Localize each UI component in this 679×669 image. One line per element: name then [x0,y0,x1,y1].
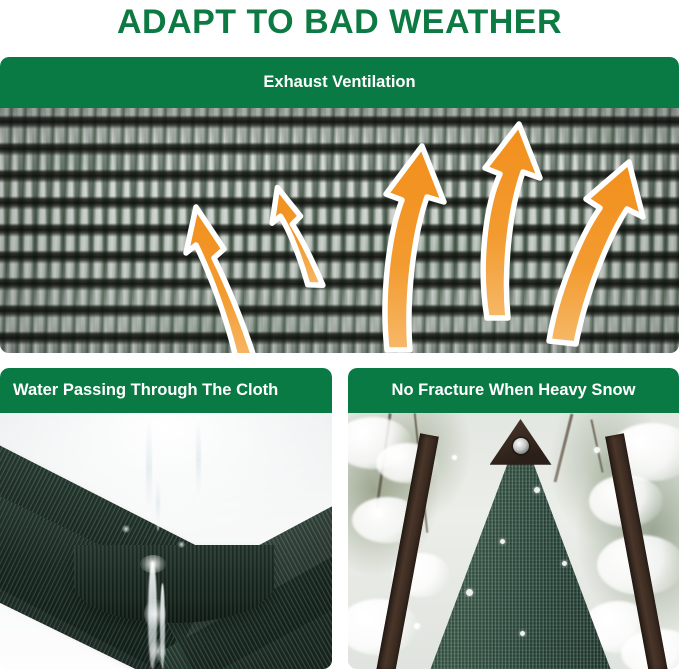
water-splash-1 [140,555,166,573]
water-banner-label: Water Passing Through The Cloth [0,368,332,413]
snow-media [348,413,679,669]
water-stream-1 [146,415,152,519]
ventilation-banner-label: Exhaust Ventilation [0,57,679,108]
snow-banner-label: No Fracture When Heavy Snow [348,368,679,413]
airflow-arrow-1 [186,207,255,353]
snowflake-5 [466,589,473,596]
snowflake-3 [534,487,540,493]
snowflake-4 [500,539,505,544]
water-splash-3 [150,639,166,663]
airflow-arrow-3 [385,146,444,350]
snowflake-8 [520,631,525,636]
water-droplet-2 [178,541,185,548]
cloth-v-trough [74,545,274,623]
airflow-arrow-4 [483,124,540,318]
panel-water-passing: Water Passing Through The Cloth [0,368,332,669]
snowflake-1 [376,511,383,518]
airflow-arrows-group [0,108,679,353]
grommet-icon [513,438,529,454]
ventilation-media [0,108,679,353]
water-droplet-1 [122,525,130,533]
snowflake-7 [414,623,420,629]
water-stream-3 [156,473,160,531]
snowflake-6 [562,561,567,566]
snowflake-2 [452,455,457,460]
water-splash-2 [144,599,166,629]
water-stream-2 [196,413,201,505]
panel-no-fracture-snow: No Fracture When Heavy Snow [348,368,679,669]
airflow-arrow-5 [549,162,643,344]
water-media [0,413,332,669]
page-title: ADAPT TO BAD WEATHER [0,0,679,46]
snowflake-9 [594,447,600,453]
airflow-arrow-2 [268,184,322,290]
panel-exhaust-ventilation: Exhaust Ventilation [0,57,679,353]
